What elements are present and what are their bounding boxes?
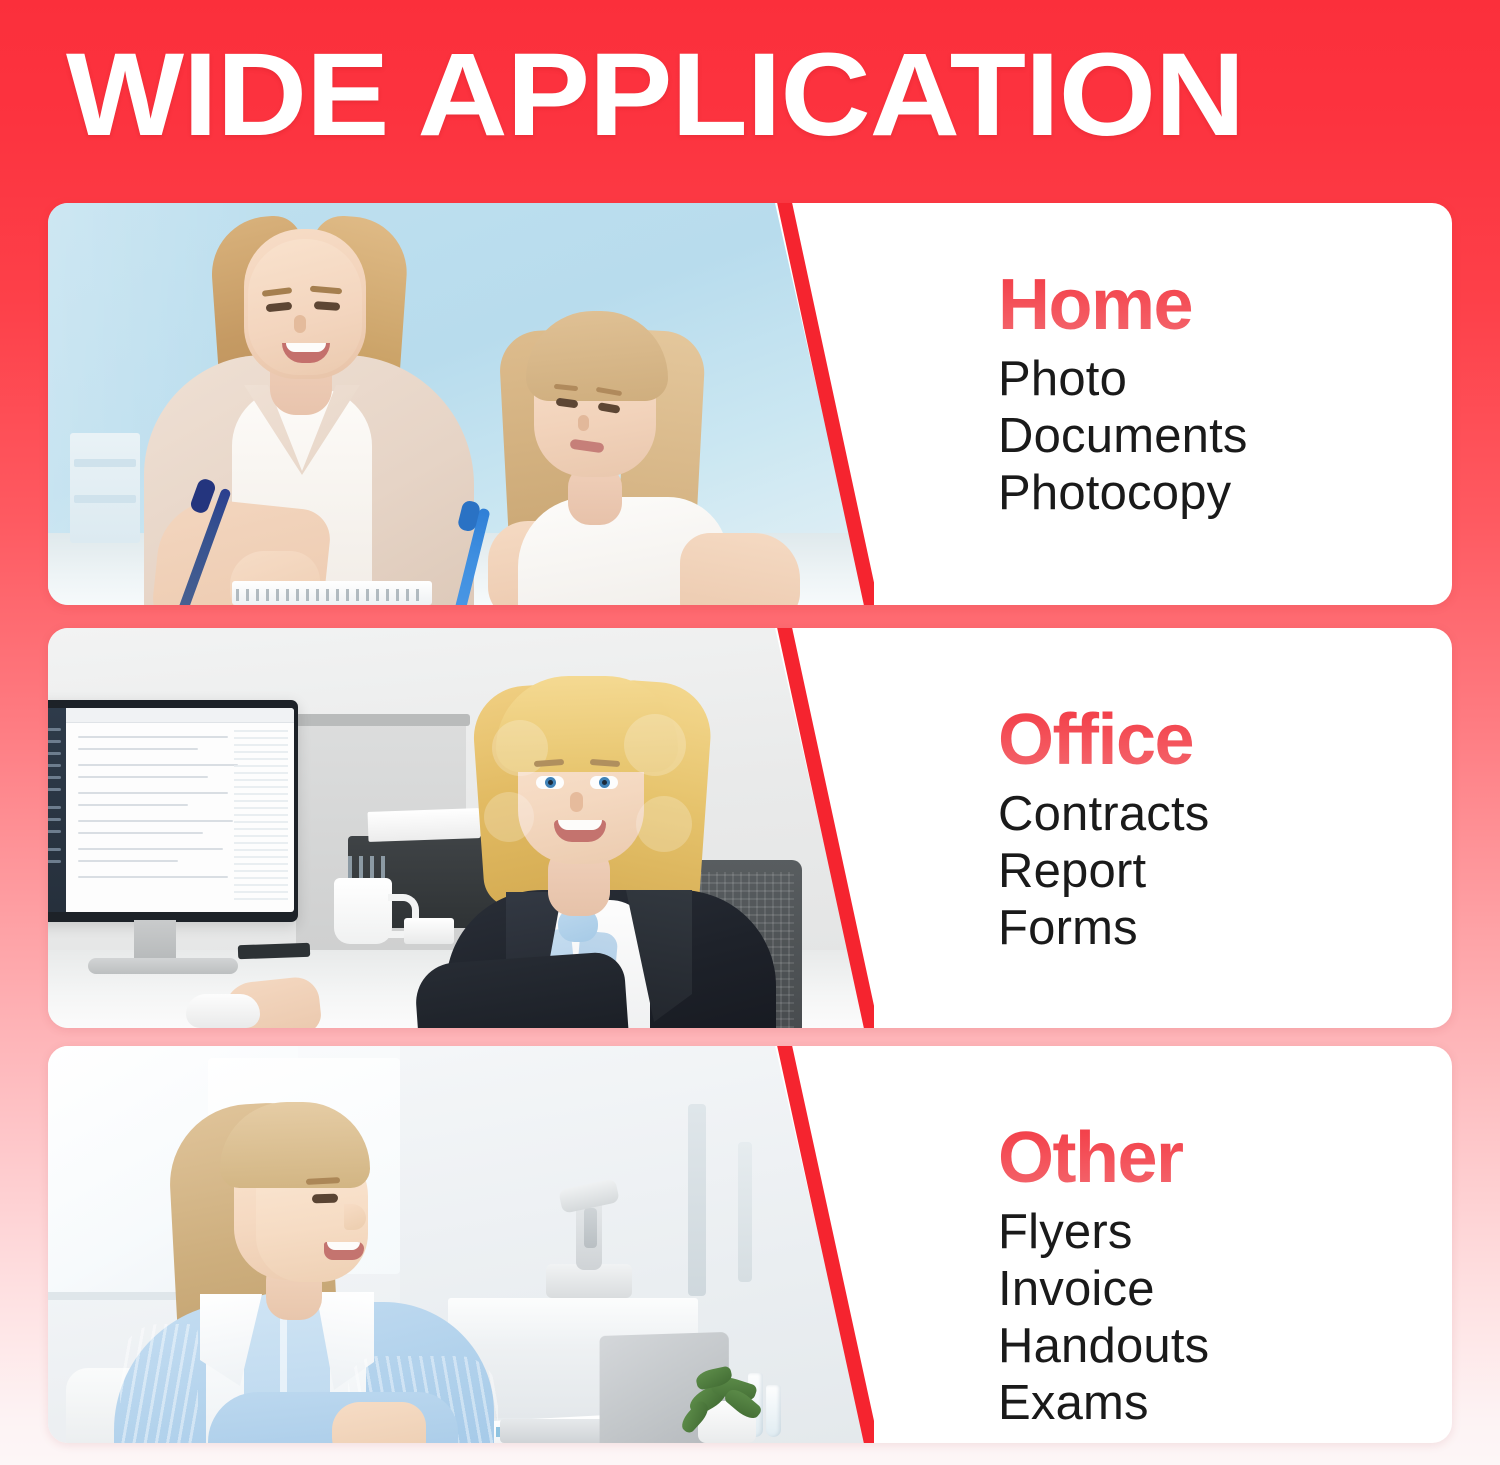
application-card-office: Office Contracts Report Forms	[48, 628, 1452, 1028]
photo-home	[48, 203, 874, 605]
photo-other-wrapper	[48, 1046, 874, 1443]
application-card-home: Home Photo Documents Photocopy	[48, 203, 1452, 605]
card-heading-other: Other	[998, 1118, 1452, 1198]
application-card-other: Other Flyers Invoice Handouts Exams	[48, 1046, 1452, 1443]
page-title: WIDE APPLICATION	[66, 36, 1244, 154]
title-band: WIDE APPLICATION	[0, 0, 1500, 186]
list-item: Flyers	[998, 1204, 1452, 1261]
wide-application-poster: WIDE APPLICATION	[0, 0, 1500, 1465]
list-item: Handouts	[998, 1318, 1452, 1375]
list-item: Invoice	[998, 1261, 1452, 1318]
list-item: Exams	[998, 1375, 1452, 1432]
text-panel-other: Other Flyers Invoice Handouts Exams	[998, 1046, 1452, 1443]
text-panel-office: Office Contracts Report Forms	[998, 628, 1452, 1028]
list-item: Contracts	[998, 786, 1452, 843]
list-item: Forms	[998, 900, 1452, 957]
card-heading-home: Home	[998, 265, 1452, 345]
photo-other	[48, 1046, 874, 1443]
photo-office-wrapper	[48, 628, 874, 1028]
card-list-other: Flyers Invoice Handouts Exams	[998, 1204, 1452, 1432]
list-item: Report	[998, 843, 1452, 900]
text-panel-home: Home Photo Documents Photocopy	[998, 203, 1452, 605]
card-list-home: Photo Documents Photocopy	[998, 351, 1452, 522]
list-item: Documents	[998, 408, 1452, 465]
card-list-office: Contracts Report Forms	[998, 786, 1452, 957]
list-item: Photocopy	[998, 465, 1452, 522]
card-heading-office: Office	[998, 700, 1452, 780]
list-item: Photo	[998, 351, 1452, 408]
photo-office	[48, 628, 874, 1028]
photo-home-wrapper	[48, 203, 874, 605]
